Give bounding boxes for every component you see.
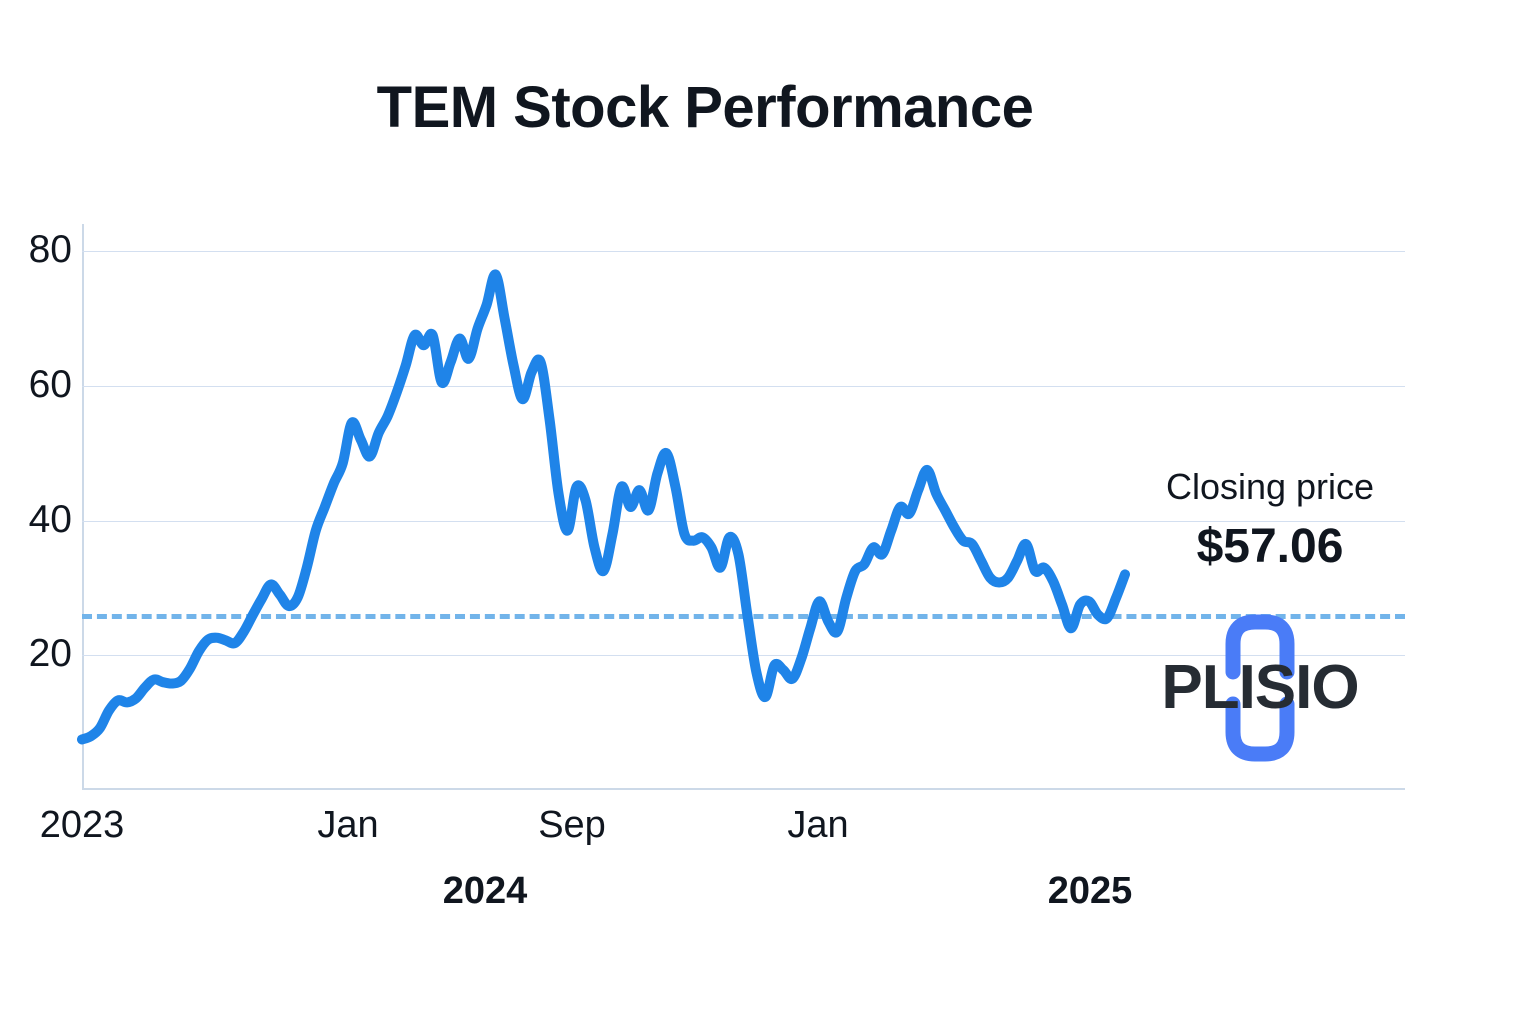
x-axis-year-2024: 2024 [443,872,528,910]
y-axis-tick-40: 40 [8,500,72,539]
x-axis-year-2025: 2025 [1048,872,1133,910]
closing-price-value: $57.06 [1140,521,1400,574]
x-axis-tick-jan-2024: Jan [317,806,378,844]
page-title: TEM Stock Performance [0,78,1410,139]
chart-page: TEM Stock Performance 80 60 40 20 2023 J… [0,0,1536,1024]
y-axis-tick-80: 80 [8,230,72,269]
x-axis-tick-2023: 2023 [40,806,125,844]
plisio-wordmark: PLISIO [1161,653,1358,722]
x-axis-tick-jan-2025: Jan [787,806,848,844]
plisio-bracket-icon: PLISIO [1135,608,1385,768]
closing-price-annotation: Closing price $57.06 [1140,466,1400,574]
plisio-logo: PLISIO [1135,608,1385,768]
x-axis-tick-sep-2024: Sep [538,806,606,844]
y-axis-tick-20: 20 [8,634,72,673]
closing-price-label: Closing price [1140,466,1400,507]
series-line-path [82,274,1125,739]
y-axis-tick-60: 60 [8,365,72,404]
